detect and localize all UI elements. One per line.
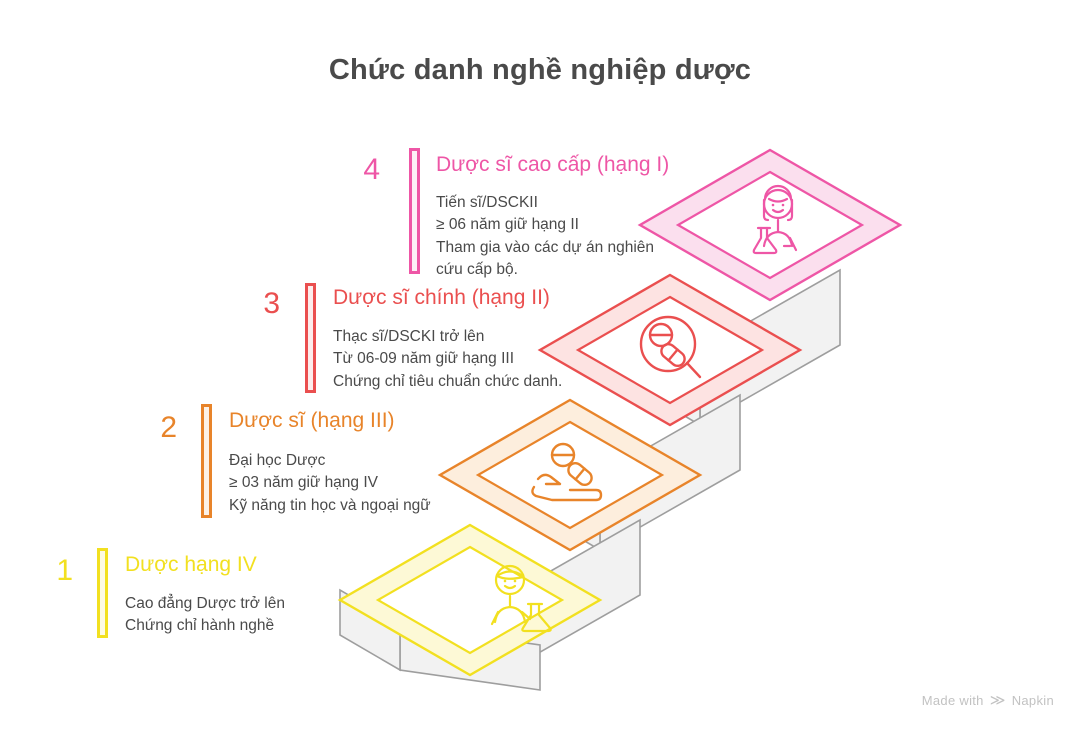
- female-pharmacist-flask-icon: [754, 186, 796, 253]
- napkin-logo-icon: ≫: [990, 693, 1006, 708]
- watermark-prefix: Made with: [922, 693, 984, 708]
- tier-3-heading: Dược sĩ chính (hạng II): [333, 285, 550, 310]
- tier-1-heading: Dược hạng IV: [125, 552, 257, 577]
- pharmacist-flask-icon: [492, 566, 551, 631]
- tier-1-body: Cao đẳng Dược trở lên Chứng chỉ hành ngh…: [125, 593, 405, 638]
- tier-3-bar: [305, 283, 316, 393]
- magnifier-pills-icon: [641, 317, 700, 377]
- tier-4-number: 4: [340, 155, 380, 185]
- step-2: [440, 400, 700, 675]
- tier-2-bar: [201, 404, 212, 518]
- tier-1-bar: [97, 548, 108, 638]
- napkin-watermark: Made with ≫ Napkin: [922, 693, 1054, 708]
- step-3: [540, 275, 800, 550]
- hand-pills-icon: [532, 444, 601, 500]
- page-title: Chức danh nghề nghiệp dược: [0, 54, 1080, 87]
- tier-2-number: 2: [137, 413, 177, 443]
- tier-2-heading: Dược sĩ (hạng III): [229, 408, 395, 433]
- tier-3-number: 3: [240, 289, 280, 319]
- tier-4-bar: [409, 148, 420, 274]
- tier-2-body: Đại học Dược ≥ 03 năm giữ hạng IV Kỹ năn…: [229, 450, 529, 517]
- tier-4-body: Tiến sĩ/DSCKII ≥ 06 năm giữ hạng II Tham…: [436, 192, 706, 282]
- tier-1-number: 1: [33, 556, 73, 586]
- tier-3-body: Thạc sĩ/DSCKI trở lên Từ 06-09 năm giữ h…: [333, 326, 623, 393]
- infographic-canvas: Chức danh nghề nghiệp dược: [0, 0, 1080, 732]
- tier-4-heading: Dược sĩ cao cấp (hạng I): [436, 152, 669, 177]
- watermark-brand: Napkin: [1012, 693, 1054, 708]
